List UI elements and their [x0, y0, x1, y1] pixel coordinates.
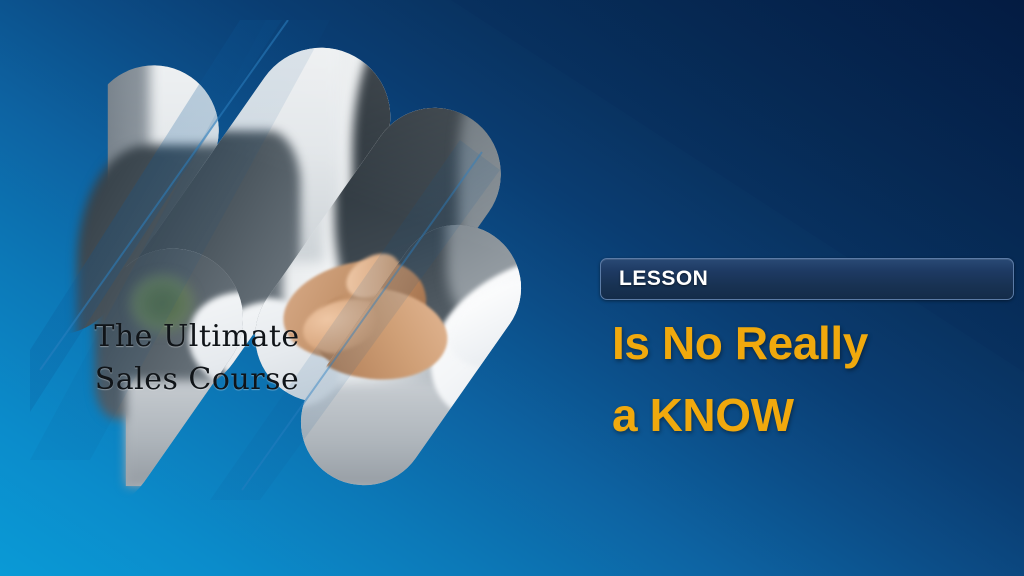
lesson-headline-line-2: a KNOW — [612, 388, 1014, 442]
lesson-text-block: LESSON Is No Really a KNOW — [600, 258, 1014, 442]
lesson-headline-line-1: Is No Really — [612, 316, 1014, 370]
lesson-badge-label: LESSON — [619, 267, 708, 291]
slide-canvas: The Ultimate Sales Course LESSON Is No R… — [0, 0, 1024, 576]
lesson-badge: LESSON — [600, 258, 1014, 300]
photo-collage — [30, 20, 550, 500]
